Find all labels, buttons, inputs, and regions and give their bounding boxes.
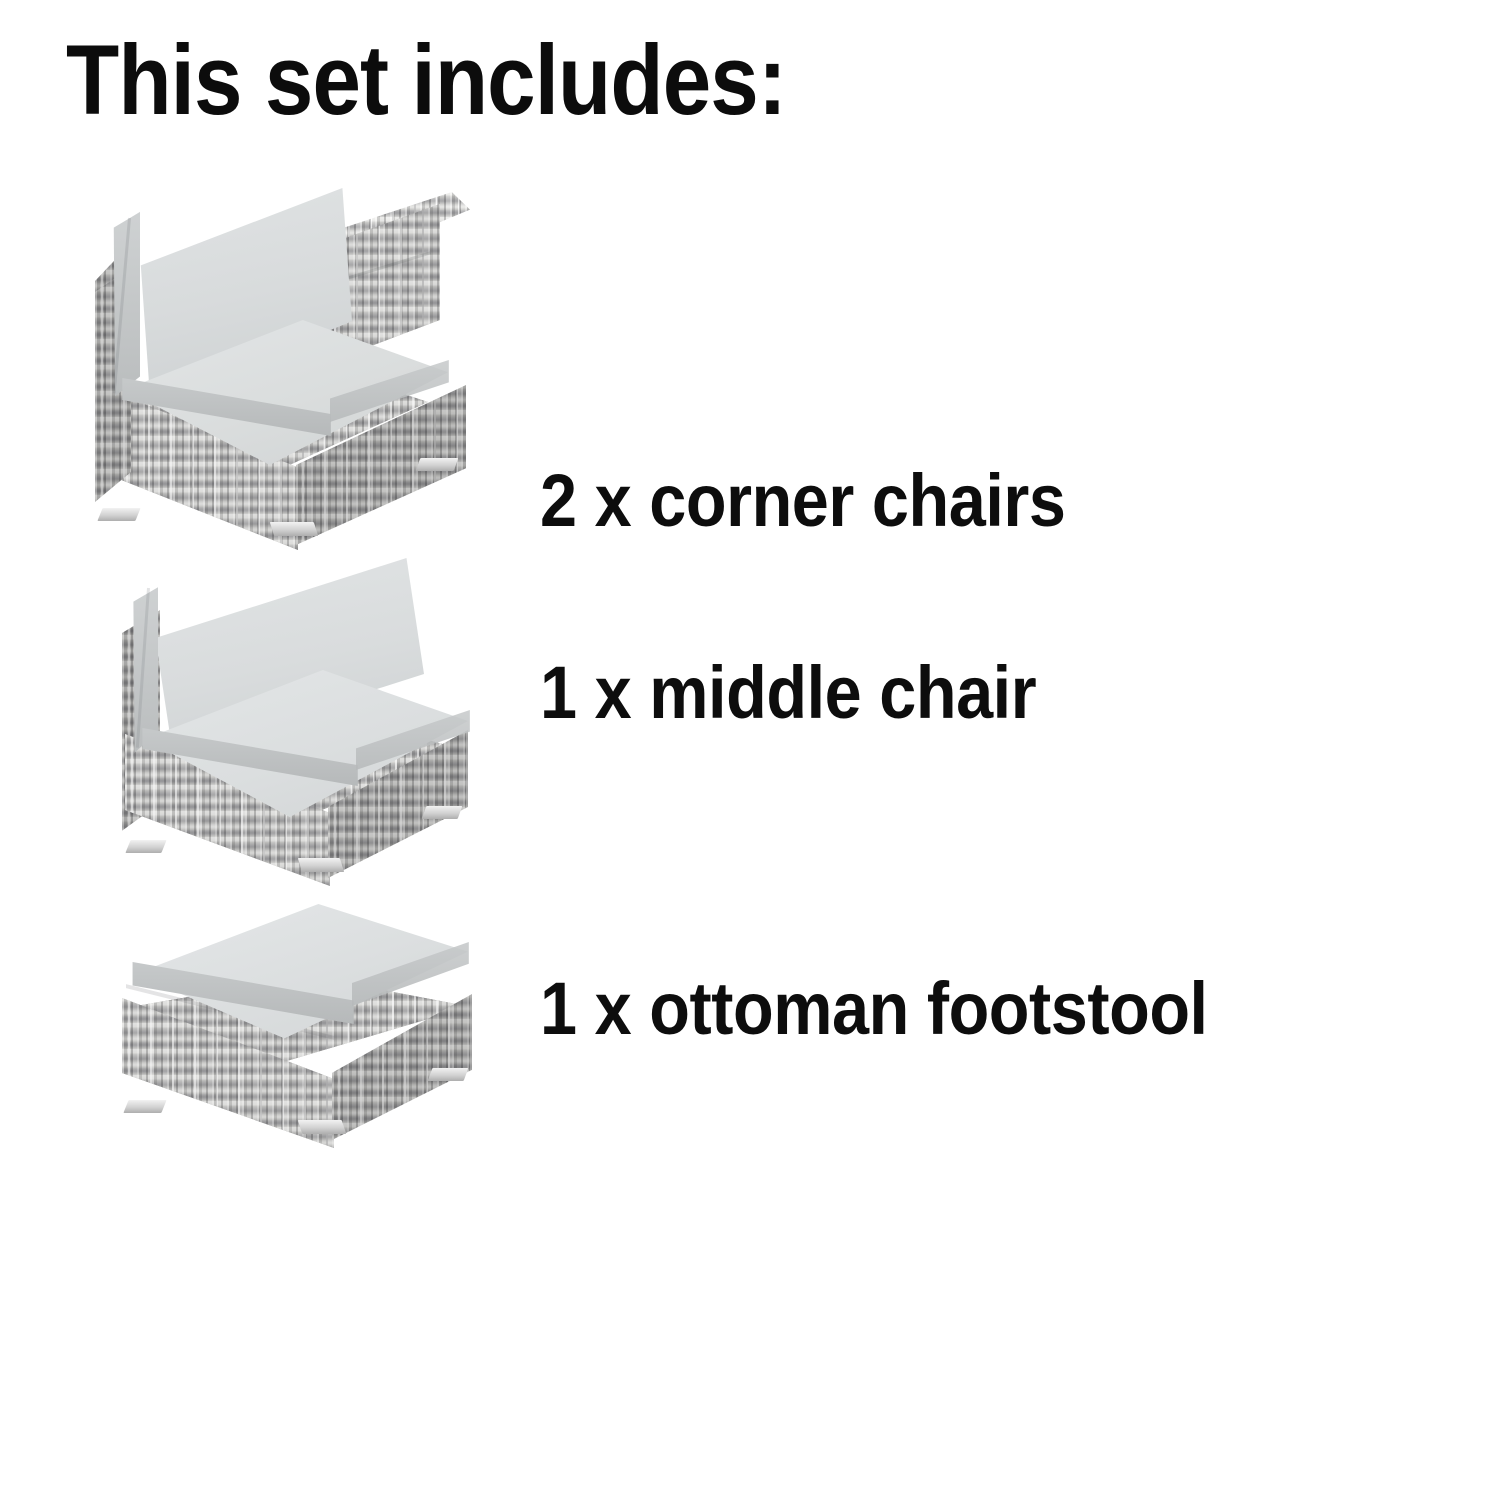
corner-chair-foot-front [270, 522, 319, 536]
middle-chair-foot-front [298, 858, 345, 872]
middle-chair-foot-right [422, 806, 463, 819]
ottoman-foot-left [123, 1100, 166, 1113]
corner-chair-label: 2 x corner chairs [540, 458, 1065, 543]
ottoman-foot-front [298, 1120, 347, 1134]
middle-chair-label: 1 x middle chair [540, 650, 1036, 735]
list-item-corner-chair: 2 x corner chairs [0, 170, 1500, 545]
corner-chair-foot-left [97, 508, 140, 521]
middle-chair-foot-left [125, 840, 166, 853]
ottoman-foot-right [428, 1068, 469, 1081]
corner-chair-image [0, 170, 480, 545]
ottoman-footstool-image [0, 898, 480, 1158]
page-title: This set includes: [66, 22, 786, 139]
list-item-middle-chair: 1 x middle chair [0, 552, 1500, 882]
middle-chair-image [0, 552, 480, 882]
corner-chair-foot-right [416, 458, 459, 471]
ottoman-footstool-label: 1 x ottoman footstool [540, 966, 1208, 1051]
list-item-ottoman-footstool: 1 x ottoman footstool [0, 898, 1500, 1158]
